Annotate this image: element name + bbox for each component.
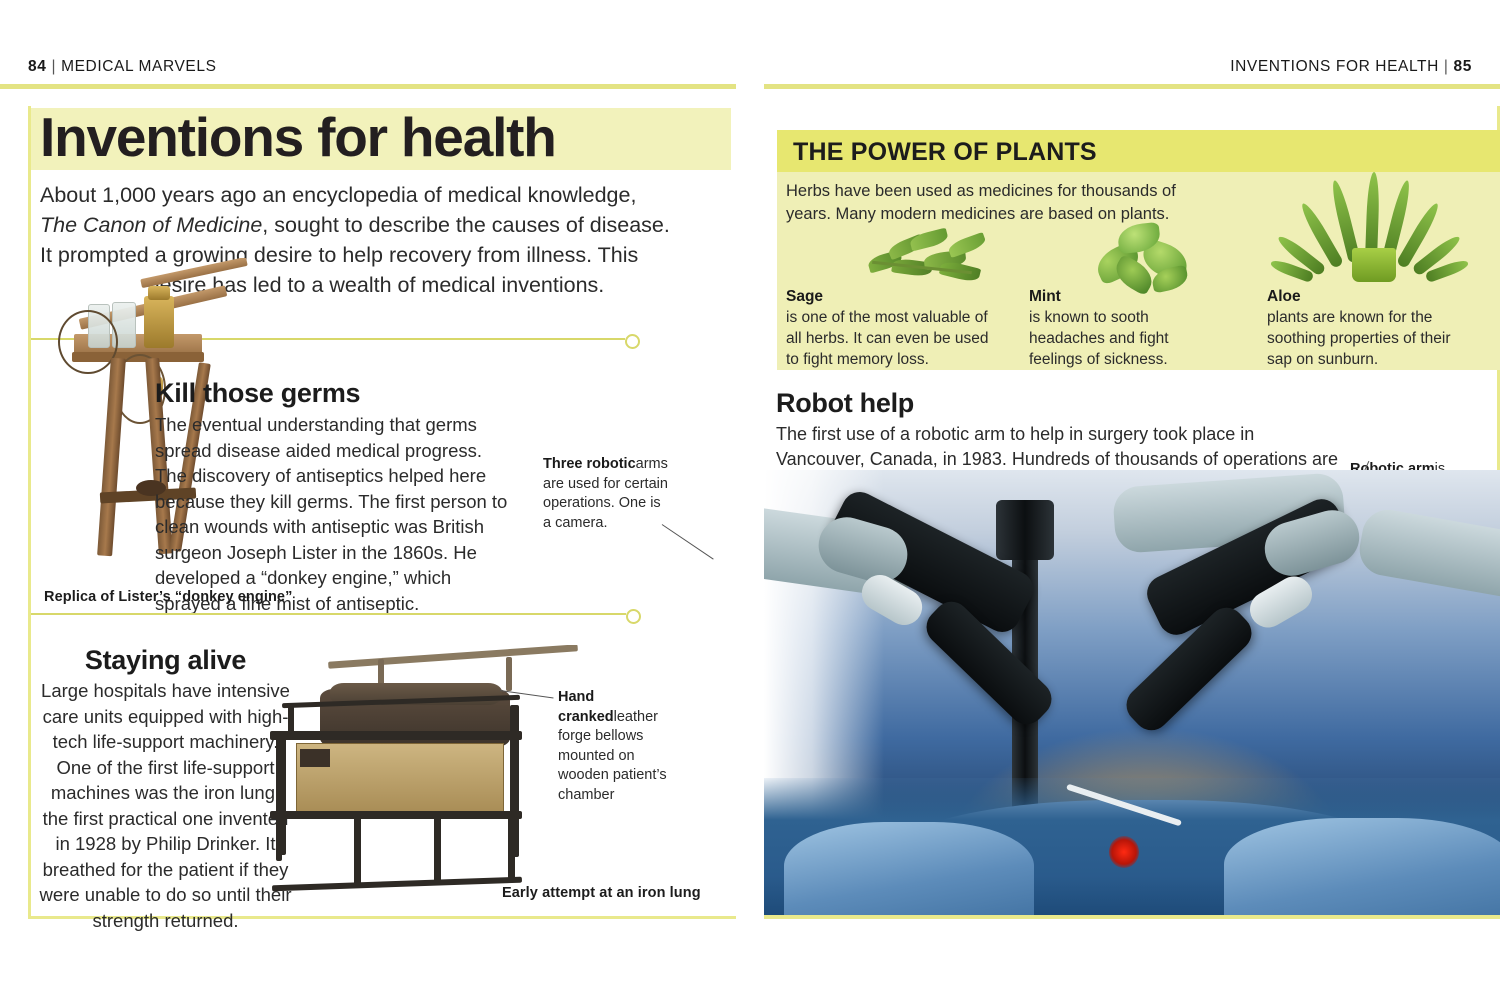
intro-book-title: The Canon of Medicine	[40, 213, 262, 237]
robot-pod-right	[1356, 506, 1500, 601]
surgeon-gown-left	[784, 822, 1034, 918]
staying-alive-section: Staying alive Large hospitals have inten…	[38, 645, 293, 933]
running-head-title-left: MEDICAL MARVELS	[61, 58, 216, 75]
annotation-three-robotic-arms: Three roboticarms are used for certain o…	[543, 455, 668, 533]
leader-dot-staying-alive	[626, 609, 641, 624]
plant-text-aloe: plants are known for the soothing proper…	[1267, 309, 1451, 368]
plant-name-aloe: Aloe	[1267, 286, 1452, 307]
book-spread: 84|MEDICAL MARVELS INVENTIONS FOR HEALTH…	[0, 0, 1500, 1000]
running-head-right: INVENTIONS FOR HEALTH|85	[1230, 58, 1472, 76]
page-number-right: 85	[1454, 58, 1472, 75]
iron-lung-caption: Early attempt at an iron lung	[502, 885, 701, 901]
header-rule-left	[0, 84, 736, 89]
plant-text-sage: is one of the most valuable of all herbs…	[786, 309, 989, 368]
plant-item-aloe: Aloeplants are known for the soothing pr…	[1267, 286, 1452, 370]
annotation-hand-cranked-bold: Hand cranked	[558, 689, 614, 725]
intro-line-2: The Canon of Medicine, sought to describ…	[40, 210, 712, 240]
intro-line-1: About 1,000 years ago an encyclopedia of…	[40, 180, 712, 210]
running-head-separator-left: |	[46, 58, 61, 75]
plant-name-mint: Mint	[1029, 286, 1209, 307]
mint-leaves-icon	[1090, 222, 1205, 288]
running-head-title-right: INVENTIONS FOR HEALTH	[1230, 58, 1439, 75]
robot-center-column-top	[996, 500, 1054, 560]
staying-alive-body: Large hospitals have intensive care unit…	[38, 678, 293, 933]
intro-line-2-rest: , sought to describe the causes of disea…	[262, 213, 670, 237]
running-head-left: 84|MEDICAL MARVELS	[28, 58, 217, 76]
plant-item-sage: Sageis one of the most valuable of all h…	[786, 286, 1001, 370]
plant-text-mint: is known to sooth headaches and fight fe…	[1029, 309, 1169, 368]
page-title: Inventions for health	[40, 110, 556, 165]
header-rule-right	[764, 84, 1500, 89]
leader-line-staying-alive	[31, 613, 626, 615]
running-head-separator-right: |	[1439, 58, 1454, 75]
annotation-three-robotic-arms-bold: Three robotic	[543, 456, 636, 472]
plant-name-sage: Sage	[786, 286, 1001, 307]
page-number-left: 84	[28, 58, 46, 75]
right-page-bottom-rule	[764, 915, 1500, 919]
donkey-engine-caption: Replica of Lister’s “donkey engine”	[44, 589, 292, 605]
staying-alive-heading: Staying alive	[38, 645, 293, 676]
kill-germs-heading: Kill those germs	[155, 378, 515, 409]
incision-glow	[1109, 836, 1139, 868]
leader-dot-kill-germs	[625, 334, 640, 349]
power-of-plants-title: THE POWER OF PLANTS	[793, 138, 1097, 167]
surgeon-gown-right	[1224, 818, 1500, 918]
sage-sprig-icon	[862, 230, 992, 288]
plant-item-mint: Mintis known to sooth headaches and figh…	[1029, 286, 1209, 370]
kill-germs-section: Kill those germs The eventual understand…	[155, 378, 515, 616]
robotic-surgery-photo	[764, 470, 1500, 918]
aloe-pot-icon	[1352, 248, 1396, 282]
power-of-plants-intro: Herbs have been used as medicines for th…	[786, 180, 1176, 226]
kill-germs-body: The eventual understanding that germs sp…	[155, 412, 515, 616]
annotation-hand-cranked: Hand crankedleather forge bellows mounte…	[558, 688, 678, 805]
robot-help-heading: Robot help	[776, 388, 1346, 419]
